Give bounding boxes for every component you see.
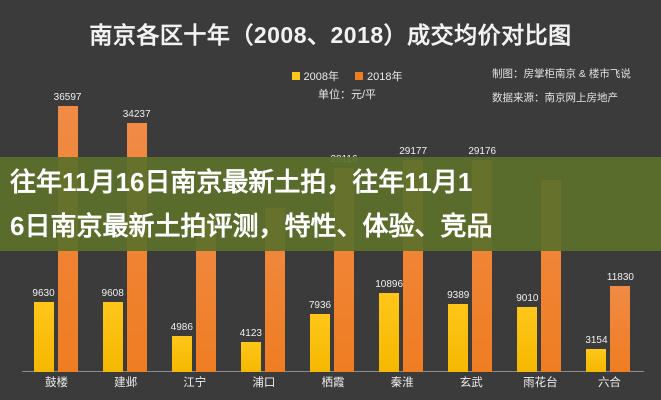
chart-screenshot: 南京各区十年（2008、2018）成交均价对比图 2008年 2018年 单位：… xyxy=(0,0,661,400)
bar-2008: 4986 xyxy=(172,336,192,372)
bar-value-label: 9389 xyxy=(447,290,469,301)
legend-swatch-2008 xyxy=(292,72,300,80)
bar-2008: 9010 xyxy=(517,307,537,372)
x-axis-tick-label: 玄武 xyxy=(440,374,502,390)
bar-2008: 4123 xyxy=(241,342,261,372)
x-axis-tick-label: 秦淮 xyxy=(371,374,433,390)
bar-value-label: 29177 xyxy=(399,146,427,157)
page-title: 南京各区十年（2008、2018）成交均价对比图 xyxy=(0,16,661,50)
bar-value-label: 9608 xyxy=(102,288,124,299)
bar-2008: 9389 xyxy=(448,304,468,372)
chart-legend: 2008年 2018年 xyxy=(247,68,447,84)
bar-2008: 10896 xyxy=(379,293,399,372)
bar-value-label: 7936 xyxy=(309,300,331,311)
bar-2008: 7936 xyxy=(310,314,330,372)
overlay-banner-text: 往年11月16日南京最新土拍，往年11月1 6日南京最新土拍评测，特性、体验、竞… xyxy=(0,157,661,251)
legend-label-2008: 2008年 xyxy=(304,68,339,84)
bar-value-label: 10896 xyxy=(375,279,403,290)
bar-value-label: 9010 xyxy=(516,293,538,304)
overlay-line-1: 往年11月16日南京最新土拍，往年11月1 xyxy=(10,160,651,204)
x-axis-tick-label: 浦口 xyxy=(233,374,295,390)
bar-value-label: 4986 xyxy=(171,322,193,333)
bar-value-label: 9630 xyxy=(32,288,54,299)
bar-value-label: 34237 xyxy=(123,109,151,120)
x-axis-tick-label: 六合 xyxy=(578,374,640,390)
legend-swatch-2018 xyxy=(355,72,363,80)
x-axis-tick-label: 建邺 xyxy=(95,374,157,390)
bar-value-label: 4123 xyxy=(240,328,262,339)
x-axis-tick-label: 鼓楼 xyxy=(26,374,88,390)
bar-2008: 3154 xyxy=(586,349,606,372)
bar-value-label: 29176 xyxy=(468,146,496,157)
bar-value-label: 36597 xyxy=(54,92,82,103)
bar-value-label: 3154 xyxy=(585,335,607,346)
bar-2018: 11830 xyxy=(610,286,630,372)
credit-author: 制图：房掌柜南京 & 楼市飞说 xyxy=(492,62,657,86)
bar-value-label: 11830 xyxy=(607,272,634,283)
legend-item-2008: 2008年 xyxy=(292,68,339,84)
overlay-line-2: 6日南京最新土拍评测，特性、体验、竞品 xyxy=(10,204,651,248)
legend-item-2018: 2018年 xyxy=(355,68,402,84)
legend-label-2018: 2018年 xyxy=(367,68,402,84)
bar-2008: 9630 xyxy=(34,302,54,372)
bar-2008: 9608 xyxy=(103,302,123,372)
x-axis-tick-label: 江宁 xyxy=(164,374,226,390)
x-axis-tick-label: 栖霞 xyxy=(302,374,364,390)
x-axis-tick-label: 雨花台 xyxy=(509,374,571,390)
